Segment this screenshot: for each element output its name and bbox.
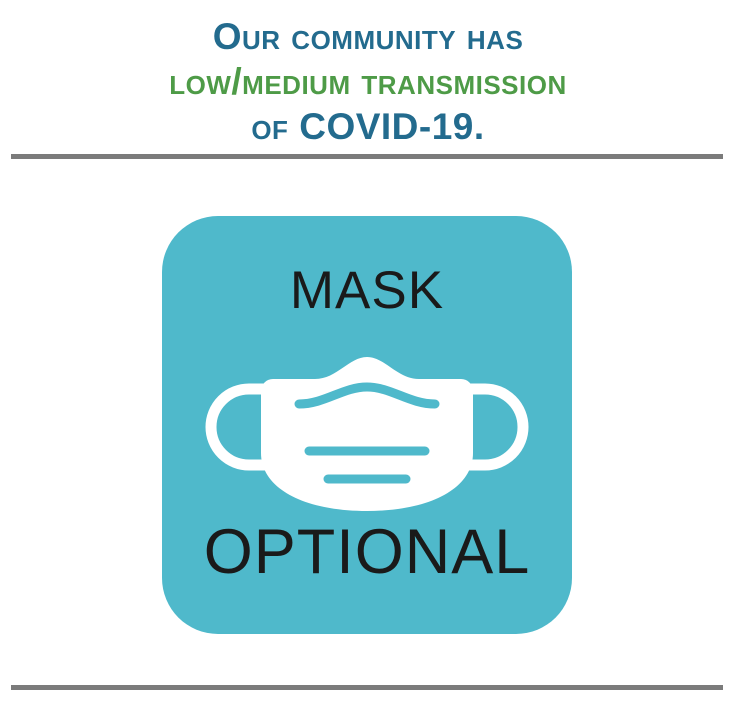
poster-root: Our community has low/medium transmissio… [0,0,736,707]
divider-bottom [11,685,723,690]
card-label-mask: MASK [162,264,572,317]
card-label-optional: OPTIONAL [162,521,572,584]
headline-line-1: Our community has [0,18,736,55]
headline-line-3-prefix: of [251,106,299,147]
headline-line-3-emphasis: COVID-19. [299,106,484,147]
headline-line-3: of COVID-19. [0,108,736,145]
face-mask-icon [197,349,537,519]
mask-status-card: MASK OPTIONAL [162,216,572,634]
divider-top [11,154,723,159]
headline-line-2: low/medium transmission [0,63,736,100]
page-title: Our community has low/medium transmissio… [0,18,736,145]
